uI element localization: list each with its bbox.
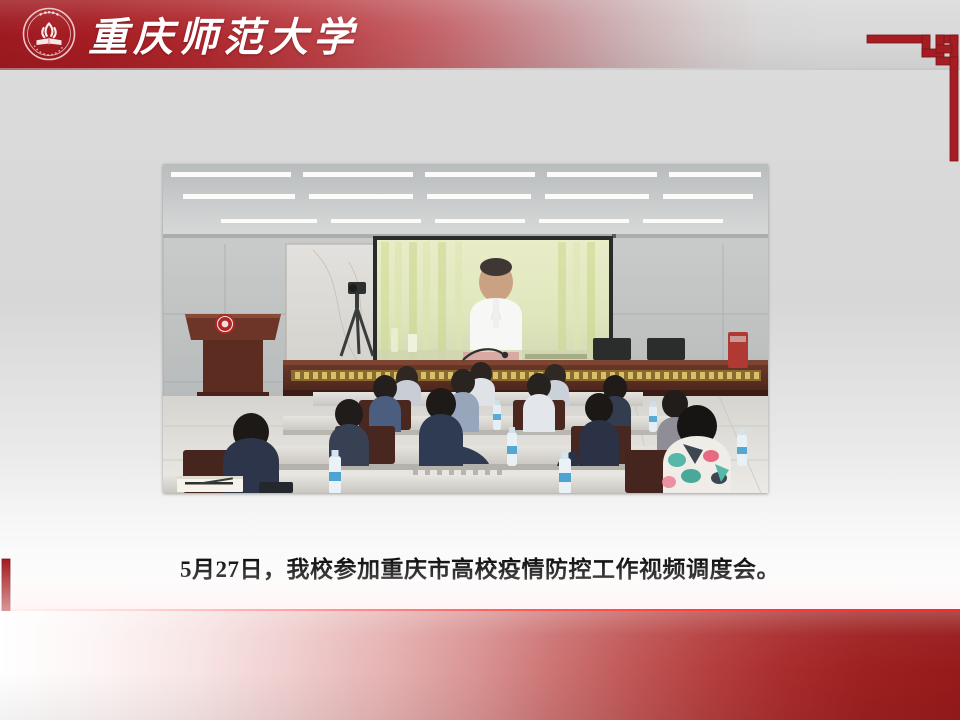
presentation-slide: 重庆师范大学 bbox=[0, 0, 960, 720]
notebook bbox=[177, 476, 243, 492]
water-bottle bbox=[737, 429, 747, 466]
university-name: 重庆师范大学 bbox=[88, 8, 358, 60]
university-seal-icon bbox=[22, 7, 76, 61]
photo-caption: 5月27日，我校参加重庆市高校疫情防控工作视频调度会。 bbox=[0, 550, 960, 584]
chinese-fret-corner-icon-top-right bbox=[860, 8, 960, 168]
meeting-photo bbox=[163, 164, 768, 493]
water-bottle bbox=[649, 402, 657, 432]
water-bottle bbox=[507, 427, 517, 466]
attendee bbox=[523, 373, 555, 432]
phone bbox=[259, 482, 293, 493]
head-table bbox=[283, 360, 768, 396]
water-bottle bbox=[329, 450, 341, 493]
water-bottle bbox=[493, 400, 501, 430]
header-underline bbox=[0, 68, 960, 70]
bottom-band bbox=[0, 611, 960, 720]
attendee bbox=[369, 375, 401, 432]
